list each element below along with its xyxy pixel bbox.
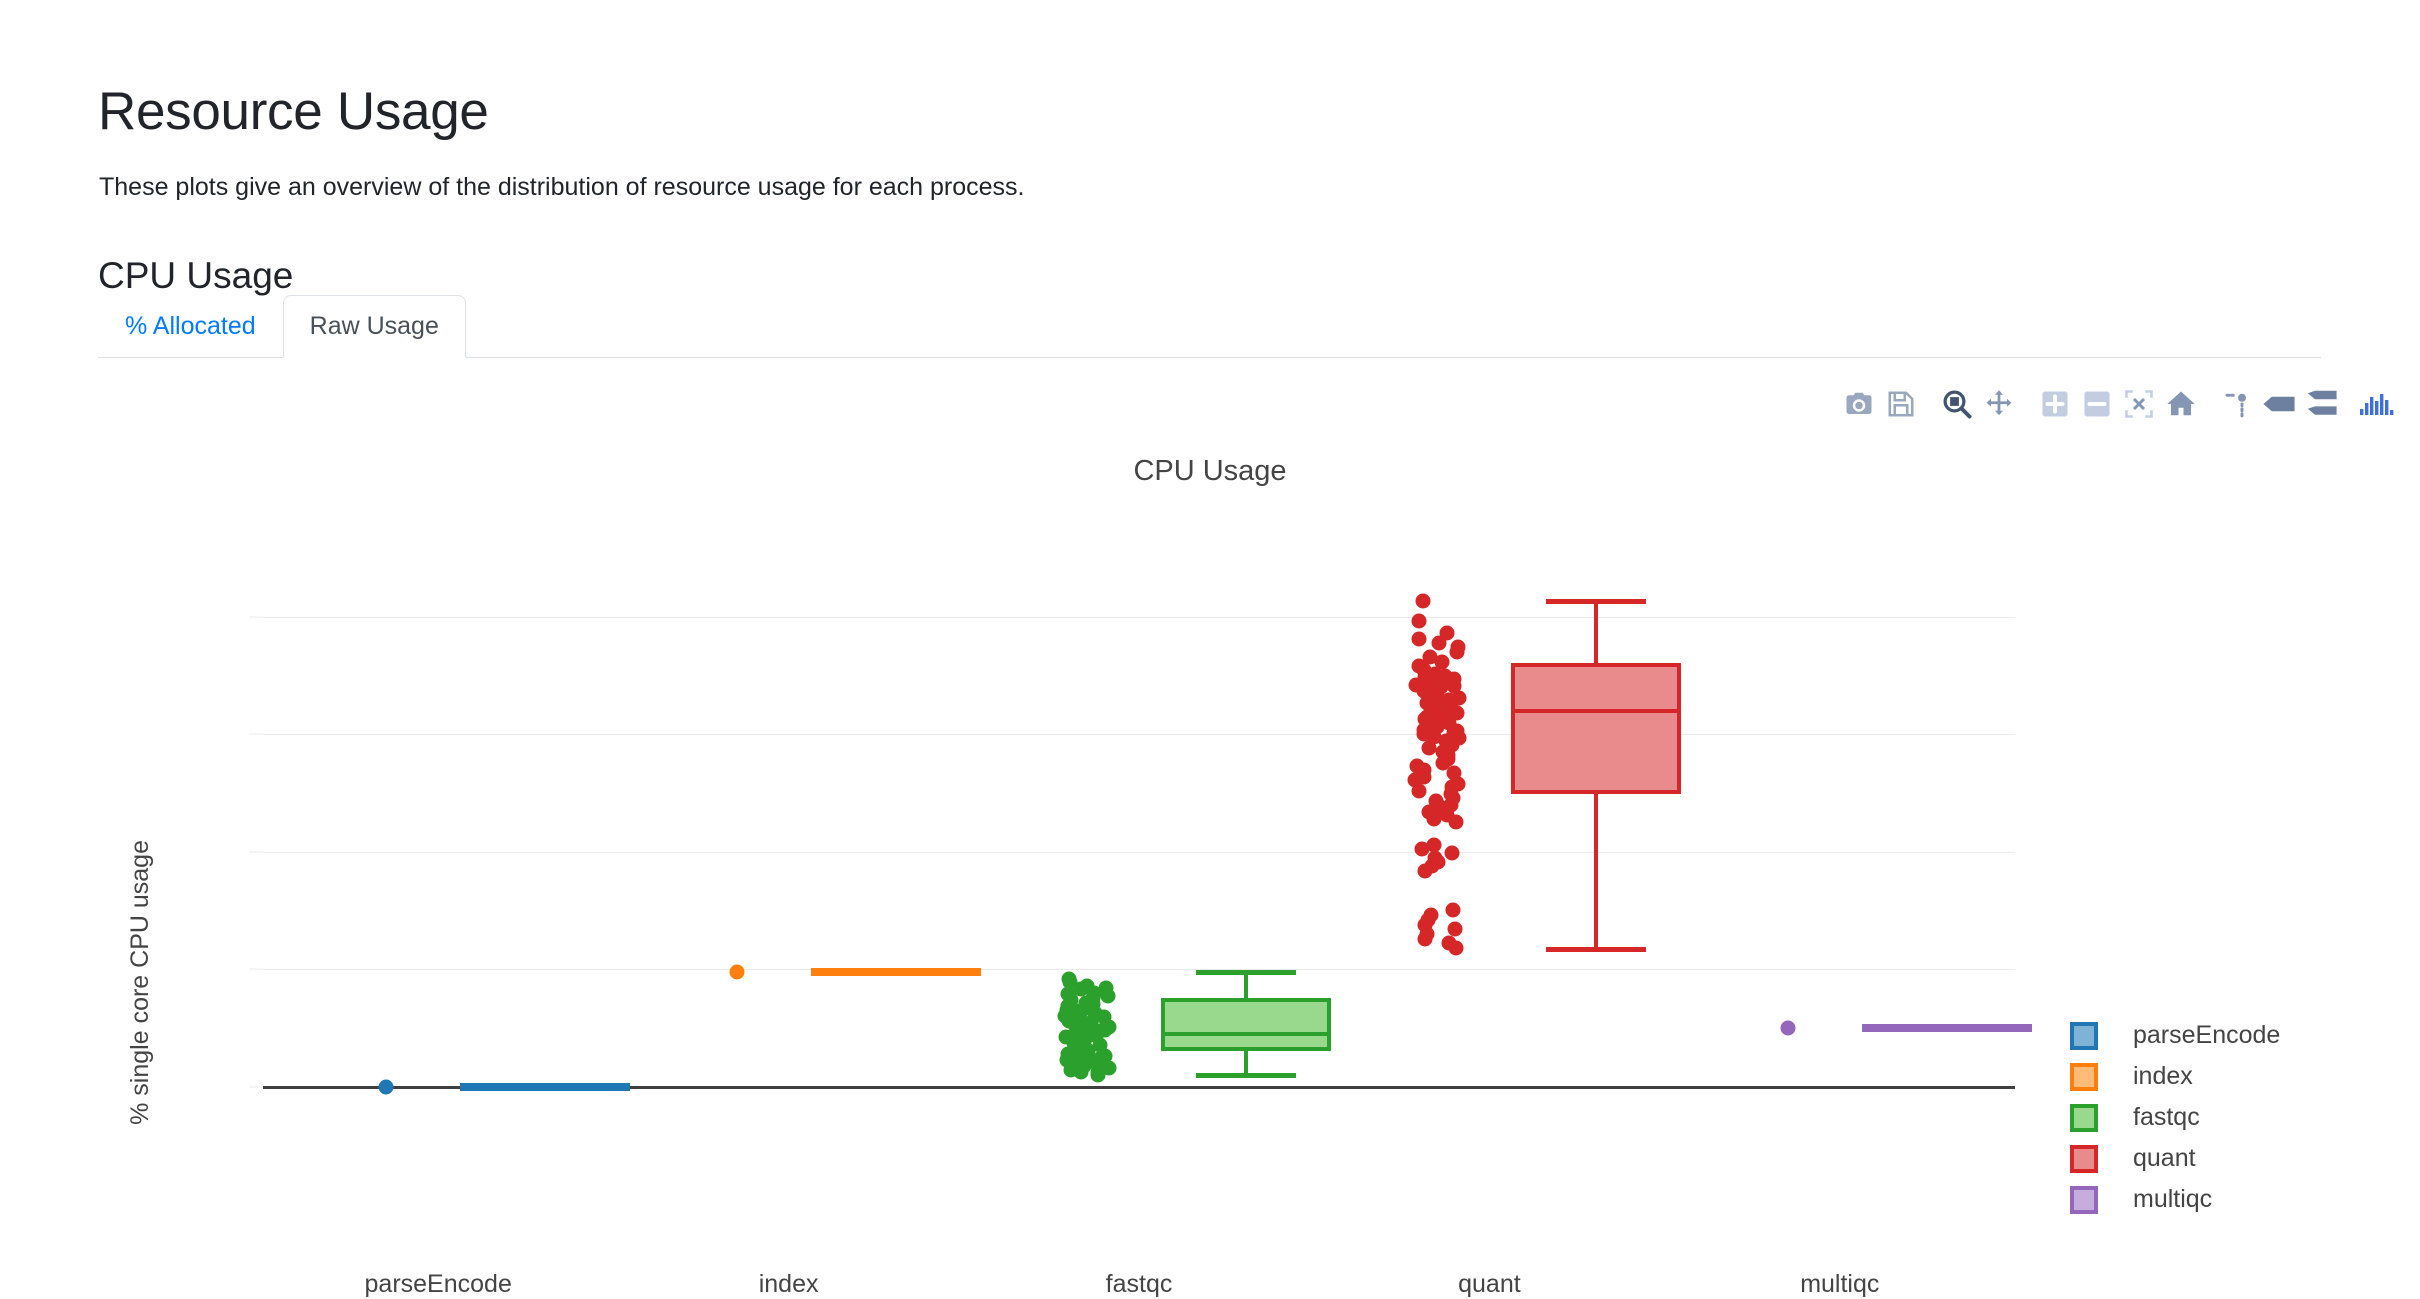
legend-swatch [2070, 1063, 2098, 1091]
y-axis-label: % single core CPU usage [126, 840, 155, 1125]
page-title: Resource Usage [98, 81, 489, 143]
legend-swatch [2070, 1104, 2098, 1132]
legend-swatch [2070, 1022, 2098, 1050]
plot-legend: parseEncodeindexfastqcquantmultiqc [2070, 1015, 2280, 1220]
cpu-usage-boxplot[interactable]: CPU Usage % single core CPU usage 020040… [0, 420, 2420, 1180]
resource-usage-page: Resource Usage These plots give an overv… [0, 0, 2420, 1238]
zoom-box-icon[interactable] [1936, 383, 1978, 425]
box-median-line [1862, 1024, 2032, 1032]
plot-axes: 0200400600800parseEncodeindexfastqcquant… [263, 570, 2015, 1110]
box-trace[interactable] [263, 570, 2015, 1110]
y-tick-mark [249, 1086, 263, 1087]
y-tick-mark [249, 734, 263, 735]
zoom-out-icon[interactable] [2076, 383, 2118, 425]
tab-percent-allocated[interactable]: % Allocated [98, 295, 283, 358]
legend-item[interactable]: parseEncode [2070, 1015, 2280, 1056]
hover-compare-icon[interactable] [2300, 383, 2342, 425]
toggle-spike-lines-icon[interactable] [2216, 383, 2258, 425]
legend-label: parseEncode [2133, 1021, 2280, 1050]
hover-closest-icon[interactable] [2258, 383, 2300, 425]
y-tick-mark [249, 851, 263, 852]
zoom-in-icon[interactable] [2034, 383, 2076, 425]
autoscale-icon[interactable] [2118, 383, 2160, 425]
legend-item[interactable]: fastqc [2070, 1097, 2280, 1138]
camera-icon[interactable] [1838, 383, 1880, 425]
legend-item[interactable]: index [2070, 1056, 2280, 1097]
pan-arrows-icon[interactable] [1978, 383, 2020, 425]
legend-item[interactable]: quant [2070, 1138, 2280, 1179]
legend-label: quant [2133, 1144, 2196, 1173]
y-tick-mark [249, 969, 263, 970]
page-description: These plots give an overview of the dist… [99, 170, 1025, 204]
plotly-modebar [1838, 383, 2398, 425]
x-tick-label: parseEncode [365, 1270, 512, 1299]
modebar-separator [2202, 383, 2216, 425]
x-tick-label: quant [1458, 1270, 1521, 1299]
box-data-point [1780, 1020, 1795, 1035]
x-tick-label: multiqc [1800, 1270, 1879, 1299]
modebar-separator [1922, 383, 1936, 425]
legend-label: index [2133, 1062, 2193, 1091]
x-tick-label: fastqc [1106, 1270, 1173, 1299]
modebar-separator [2342, 383, 2356, 425]
legend-label: fastqc [2133, 1103, 2200, 1132]
modebar-separator [2020, 383, 2034, 425]
legend-swatch [2070, 1186, 2098, 1214]
reset-axes-home-icon[interactable] [2160, 383, 2202, 425]
legend-swatch [2070, 1145, 2098, 1173]
x-tick-label: index [759, 1270, 819, 1299]
legend-label: multiqc [2133, 1185, 2212, 1214]
cpu-usage-tabs: % Allocated Raw Usage [98, 292, 2321, 358]
legend-item[interactable]: multiqc [2070, 1179, 2280, 1220]
disk-save-icon[interactable] [1880, 383, 1922, 425]
y-tick-mark [249, 616, 263, 617]
plotly-logo-icon[interactable] [2356, 383, 2398, 425]
plot-title: CPU Usage [0, 455, 2420, 488]
tab-raw-usage[interactable]: Raw Usage [283, 295, 466, 358]
